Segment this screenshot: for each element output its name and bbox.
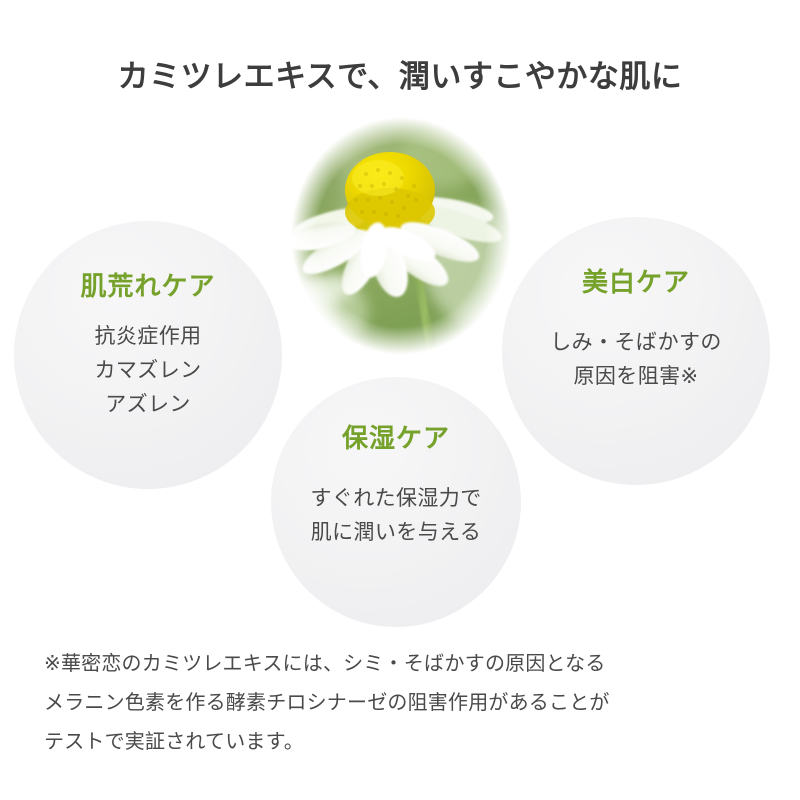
bubble-body-line: カマズレン <box>95 354 202 388</box>
bubble-heading: 保湿ケア <box>342 423 450 454</box>
bubble-heading: 美白ケア <box>582 267 690 298</box>
bubble-skin-trouble-care[interactable]: 肌荒れケア 抗炎症作用 カマズレン アズレン <box>14 221 282 489</box>
bubble-body-line: 肌に潤いを与える <box>310 516 481 550</box>
footnote-line: ※華密恋のカミツレエキスには、シミ・そばかすの原因となる <box>44 645 774 684</box>
bubble-body-line: 抗炎症作用 <box>95 320 202 354</box>
bubble-body-line: しみ・そばかすの <box>550 326 722 360</box>
bubble-body-line: すぐれた保湿力で <box>310 482 481 516</box>
benefit-diagram: 肌荒れケア 抗炎症作用 カマズレン アズレン 美白ケア しみ・そばかすの 原因を… <box>0 0 800 640</box>
bubble-whitening-care[interactable]: 美白ケア しみ・そばかすの 原因を阻害※ <box>502 217 770 485</box>
bubble-body: すぐれた保湿力で 肌に潤いを与える <box>310 482 481 550</box>
bubble-moisture-care[interactable]: 保湿ケア すぐれた保湿力で 肌に潤いを与える <box>271 377 521 627</box>
footnote: ※華密恋のカミツレエキスには、シミ・そばかすの原因となる メラニン色素を作る酵素… <box>44 645 774 762</box>
promo-page: カミツレエキスで、潤いすこやかな肌に 肌荒れケア 抗炎症作用 カマズレン アズレ… <box>0 0 800 800</box>
footnote-line: メラニン色素を作る酵素チロシナーゼの阻害作用があることが <box>44 684 774 723</box>
footnote-line: テストで実証されています。 <box>44 723 774 762</box>
chamomile-flower-image <box>290 116 512 356</box>
bubble-heading: 肌荒れケア <box>80 271 215 302</box>
bubble-body: しみ・そばかすの 原因を阻害※ <box>550 326 722 394</box>
bubble-body-line: アズレン <box>95 388 202 422</box>
chamomile-illustration <box>290 116 512 356</box>
bubble-body: 抗炎症作用 カマズレン アズレン <box>95 320 202 422</box>
bubble-body-line: 原因を阻害※ <box>550 360 722 394</box>
